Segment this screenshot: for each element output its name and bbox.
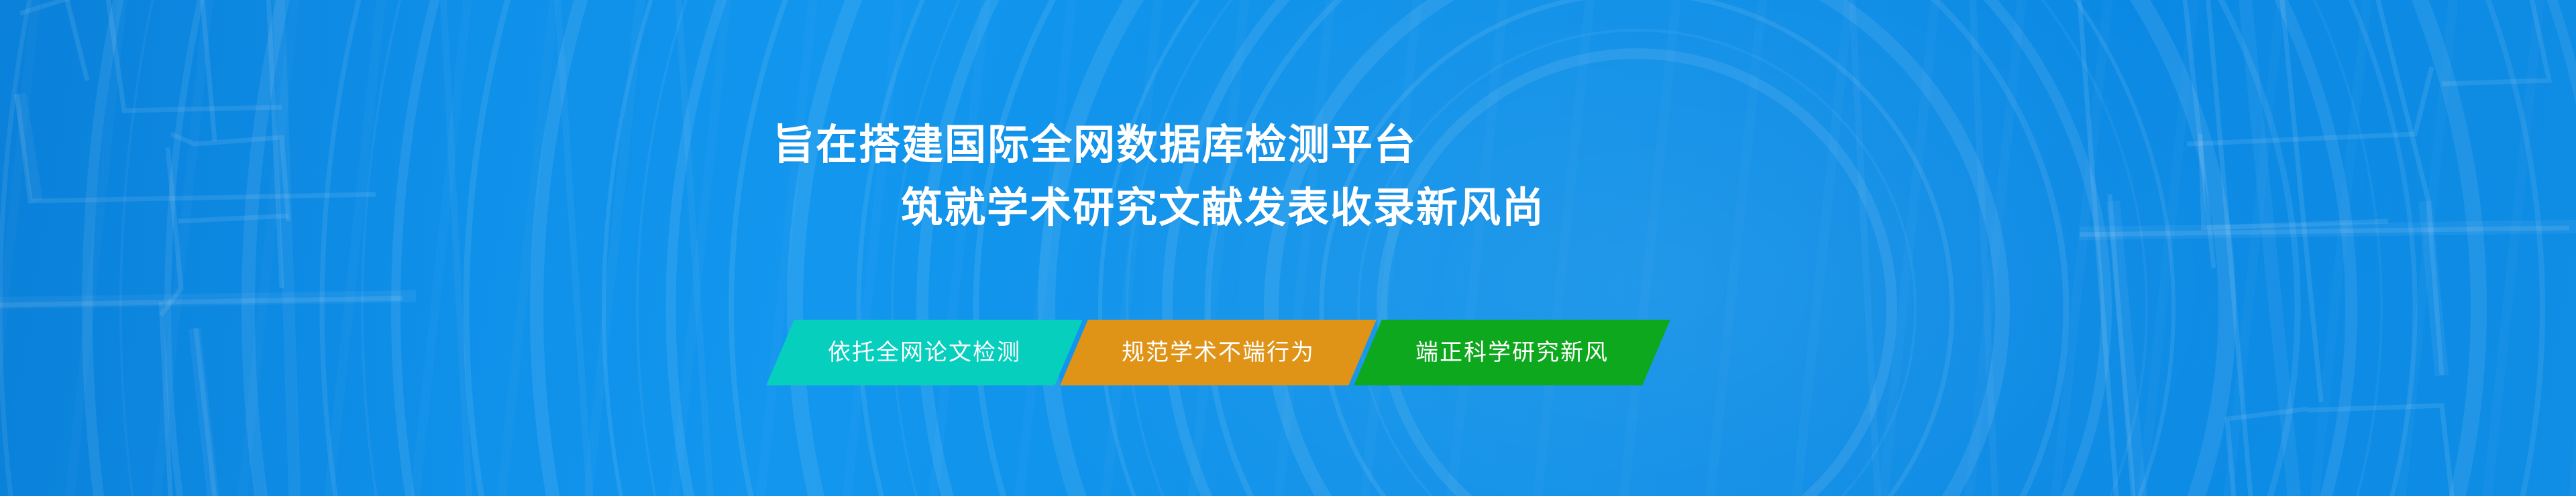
- banner-content: 旨在搭建国际全网数据库检测平台 筑就学术研究文献发表收录新风尚 依托全网论文检测…: [0, 0, 2576, 496]
- tab-academic-misconduct-label: 规范学术不端行为: [1122, 341, 1315, 364]
- tab-quanwang-detection-label: 依托全网论文检测: [828, 341, 1021, 364]
- tab-research-ethos-label: 端正科学研究新风: [1415, 341, 1609, 364]
- headline-line-1: 旨在搭建国际全网数据库检测平台: [773, 119, 1811, 172]
- headline-line-2: 筑就学术研究文献发表收录新风尚: [901, 182, 1811, 235]
- feature-tab-strip: 依托全网论文检测 规范学术不端行为 端正科学研究新风: [780, 320, 1656, 385]
- tab-research-ethos[interactable]: 端正科学研究新风: [1354, 320, 1670, 385]
- headline-block: 旨在搭建国际全网数据库检测平台 筑就学术研究文献发表收录新风尚: [0, 119, 1811, 235]
- hero-banner: 旨在搭建国际全网数据库检测平台 筑就学术研究文献发表收录新风尚 依托全网论文检测…: [0, 0, 2576, 496]
- tab-quanwang-detection[interactable]: 依托全网论文检测: [766, 320, 1083, 385]
- tab-academic-misconduct[interactable]: 规范学术不端行为: [1060, 320, 1377, 385]
